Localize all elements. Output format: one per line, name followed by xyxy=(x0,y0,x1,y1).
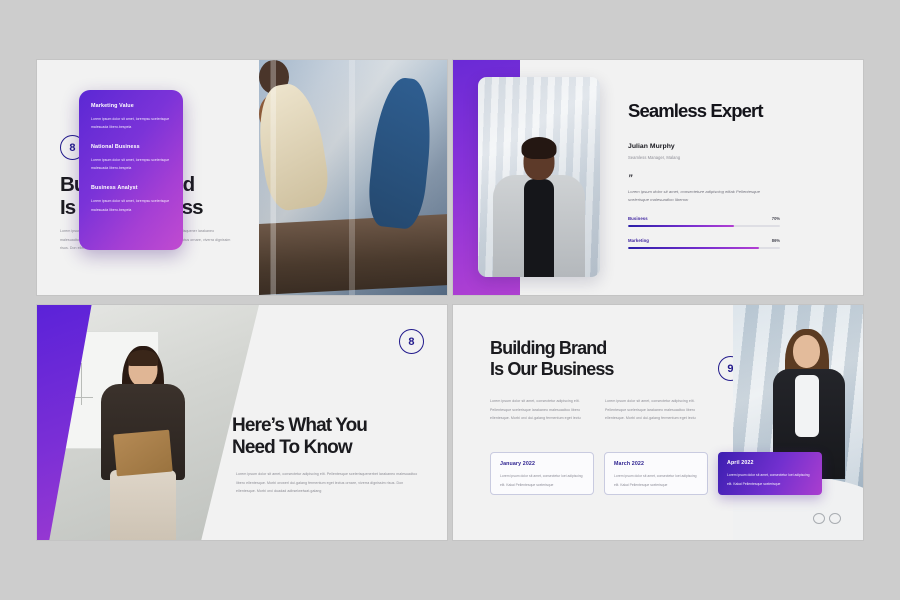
whiteboard-axis-vertical xyxy=(81,363,82,405)
slide-building-brand[interactable]: 8 Building Brand Is Our Business Lorem i… xyxy=(37,60,447,295)
portrait-inner-top xyxy=(524,179,554,277)
skill-marketing-fill xyxy=(628,247,759,249)
feature-heading-national-business: National Business xyxy=(91,144,172,150)
slide3-body-text: Lorem ipsum dolor sit amet, consectetur … xyxy=(236,470,424,496)
slide4-title: Building Brand Is Our Business xyxy=(490,338,700,379)
skill-business: Business 70% xyxy=(628,216,780,227)
feature-text-national-business: Lorem ipsum dolor sit amet, lorempsu sce… xyxy=(91,156,172,172)
slide1-photo-meeting xyxy=(259,60,447,295)
slide2-person-role: Seamless Manager, Malang xyxy=(628,155,863,160)
slide2-content-panel: Seamless Expert Julian Murphy Seamless M… xyxy=(628,60,863,295)
presenter-fringe xyxy=(128,350,158,366)
skill-business-value: 70% xyxy=(772,216,780,221)
slide3-title-line1: Here’s What You xyxy=(232,415,424,437)
skill-marketing-track xyxy=(628,247,780,249)
portrait-hair xyxy=(522,137,557,159)
portrait-figure xyxy=(491,137,587,277)
month-card-january-title: January 2022 xyxy=(500,461,584,467)
slide3-title: Here’s What You Need To Know xyxy=(232,415,424,458)
skill-marketing-value: 86% xyxy=(772,238,780,243)
slide2-person-name: Julian Murphy xyxy=(628,143,863,150)
feature-text-marketing-value: Lorem ipsum dolor sit amet, lorempsu sce… xyxy=(91,115,172,131)
slide4-body-columns: Lorem ipsum dolor sit amet, consectetur … xyxy=(490,397,710,423)
person-right-head xyxy=(259,94,291,134)
feature-heading-business-analyst: Business Analyst xyxy=(91,185,172,191)
skill-business-fill xyxy=(628,225,734,227)
slide2-title: Seamless Expert xyxy=(628,100,863,121)
month-card-april-title: April 2022 xyxy=(727,460,813,466)
month-card-january[interactable]: January 2022 Lorem ipsum dolor sit amet,… xyxy=(490,452,594,495)
skill-business-track xyxy=(628,225,780,227)
skill-business-row: Business 70% xyxy=(628,216,780,221)
slide4-body-column-2: Lorem ipsum dolor sit amet, consectetur … xyxy=(605,397,709,423)
skill-marketing-row: Marketing 86% xyxy=(628,238,780,243)
slide4-title-line2: Is Our Business xyxy=(490,359,700,380)
month-card-january-text: Lorem ipsum dolor sit amet, consectetur … xyxy=(500,472,584,489)
presenter-trousers xyxy=(110,470,176,540)
month-card-april[interactable]: April 2022 Lorem ipsum dolor sit amet, c… xyxy=(718,452,822,495)
slide-building-brand-timeline[interactable]: Building Brand Is Our Business Lorem ips… xyxy=(453,305,863,540)
slide3-title-line2: Need To Know xyxy=(232,437,424,459)
slide2-portrait-photo xyxy=(478,77,600,277)
month-card-march-title: March 2022 xyxy=(614,461,698,467)
skill-marketing: Marketing 86% xyxy=(628,238,780,249)
presenter-clipboard xyxy=(113,430,172,477)
slide-deck: 8 Building Brand Is Our Business Lorem i… xyxy=(0,0,900,600)
skill-marketing-label: Marketing xyxy=(628,238,649,243)
person-left-body xyxy=(259,80,332,213)
slide4-body-column-1: Lorem ipsum dolor sit amet, consectetur … xyxy=(490,397,594,423)
slide3-number-badge: 8 xyxy=(399,329,424,354)
slide1-gradient-feature-card[interactable]: Marketing Value Lorem ipsum dolor sit am… xyxy=(79,90,183,250)
month-card-march[interactable]: March 2022 Lorem ipsum dolor sit amet, c… xyxy=(604,452,708,495)
person-right-body xyxy=(365,75,436,230)
slide4-photo-office-worker xyxy=(733,305,863,540)
slide4-title-line1: Building Brand xyxy=(490,338,700,359)
month-card-april-text: Lorem ipsum dolor sit amet, consectetur … xyxy=(727,471,813,488)
slide4-month-card-list: January 2022 Lorem ipsum dolor sit amet,… xyxy=(490,452,822,495)
presenter-figure xyxy=(89,348,197,540)
month-card-march-text: Lorem ipsum dolor sit amet, consectetur … xyxy=(614,472,698,489)
person-left-head xyxy=(259,60,289,94)
quote-mark-icon: ” xyxy=(628,174,863,183)
skill-business-label: Business xyxy=(628,216,648,221)
worker-shirt xyxy=(795,375,819,437)
worker-head xyxy=(793,335,820,368)
feature-text-business-analyst: Lorem ipsum dolor sit amet, lorempsu sce… xyxy=(91,197,172,213)
feature-heading-marketing-value: Marketing Value xyxy=(91,103,172,109)
slide1-photo-figures xyxy=(259,60,447,295)
slide-heres-what-you-need-to-know[interactable]: 8 Here’s What You Need To Know Lorem ips… xyxy=(37,305,447,540)
slide-seamless-expert[interactable]: Seamless Expert Julian Murphy Seamless M… xyxy=(453,60,863,295)
eyeglasses-icon xyxy=(813,513,841,524)
slide2-quote-text: Lorem ipsum dolor sit amet, consecteture… xyxy=(628,188,780,205)
